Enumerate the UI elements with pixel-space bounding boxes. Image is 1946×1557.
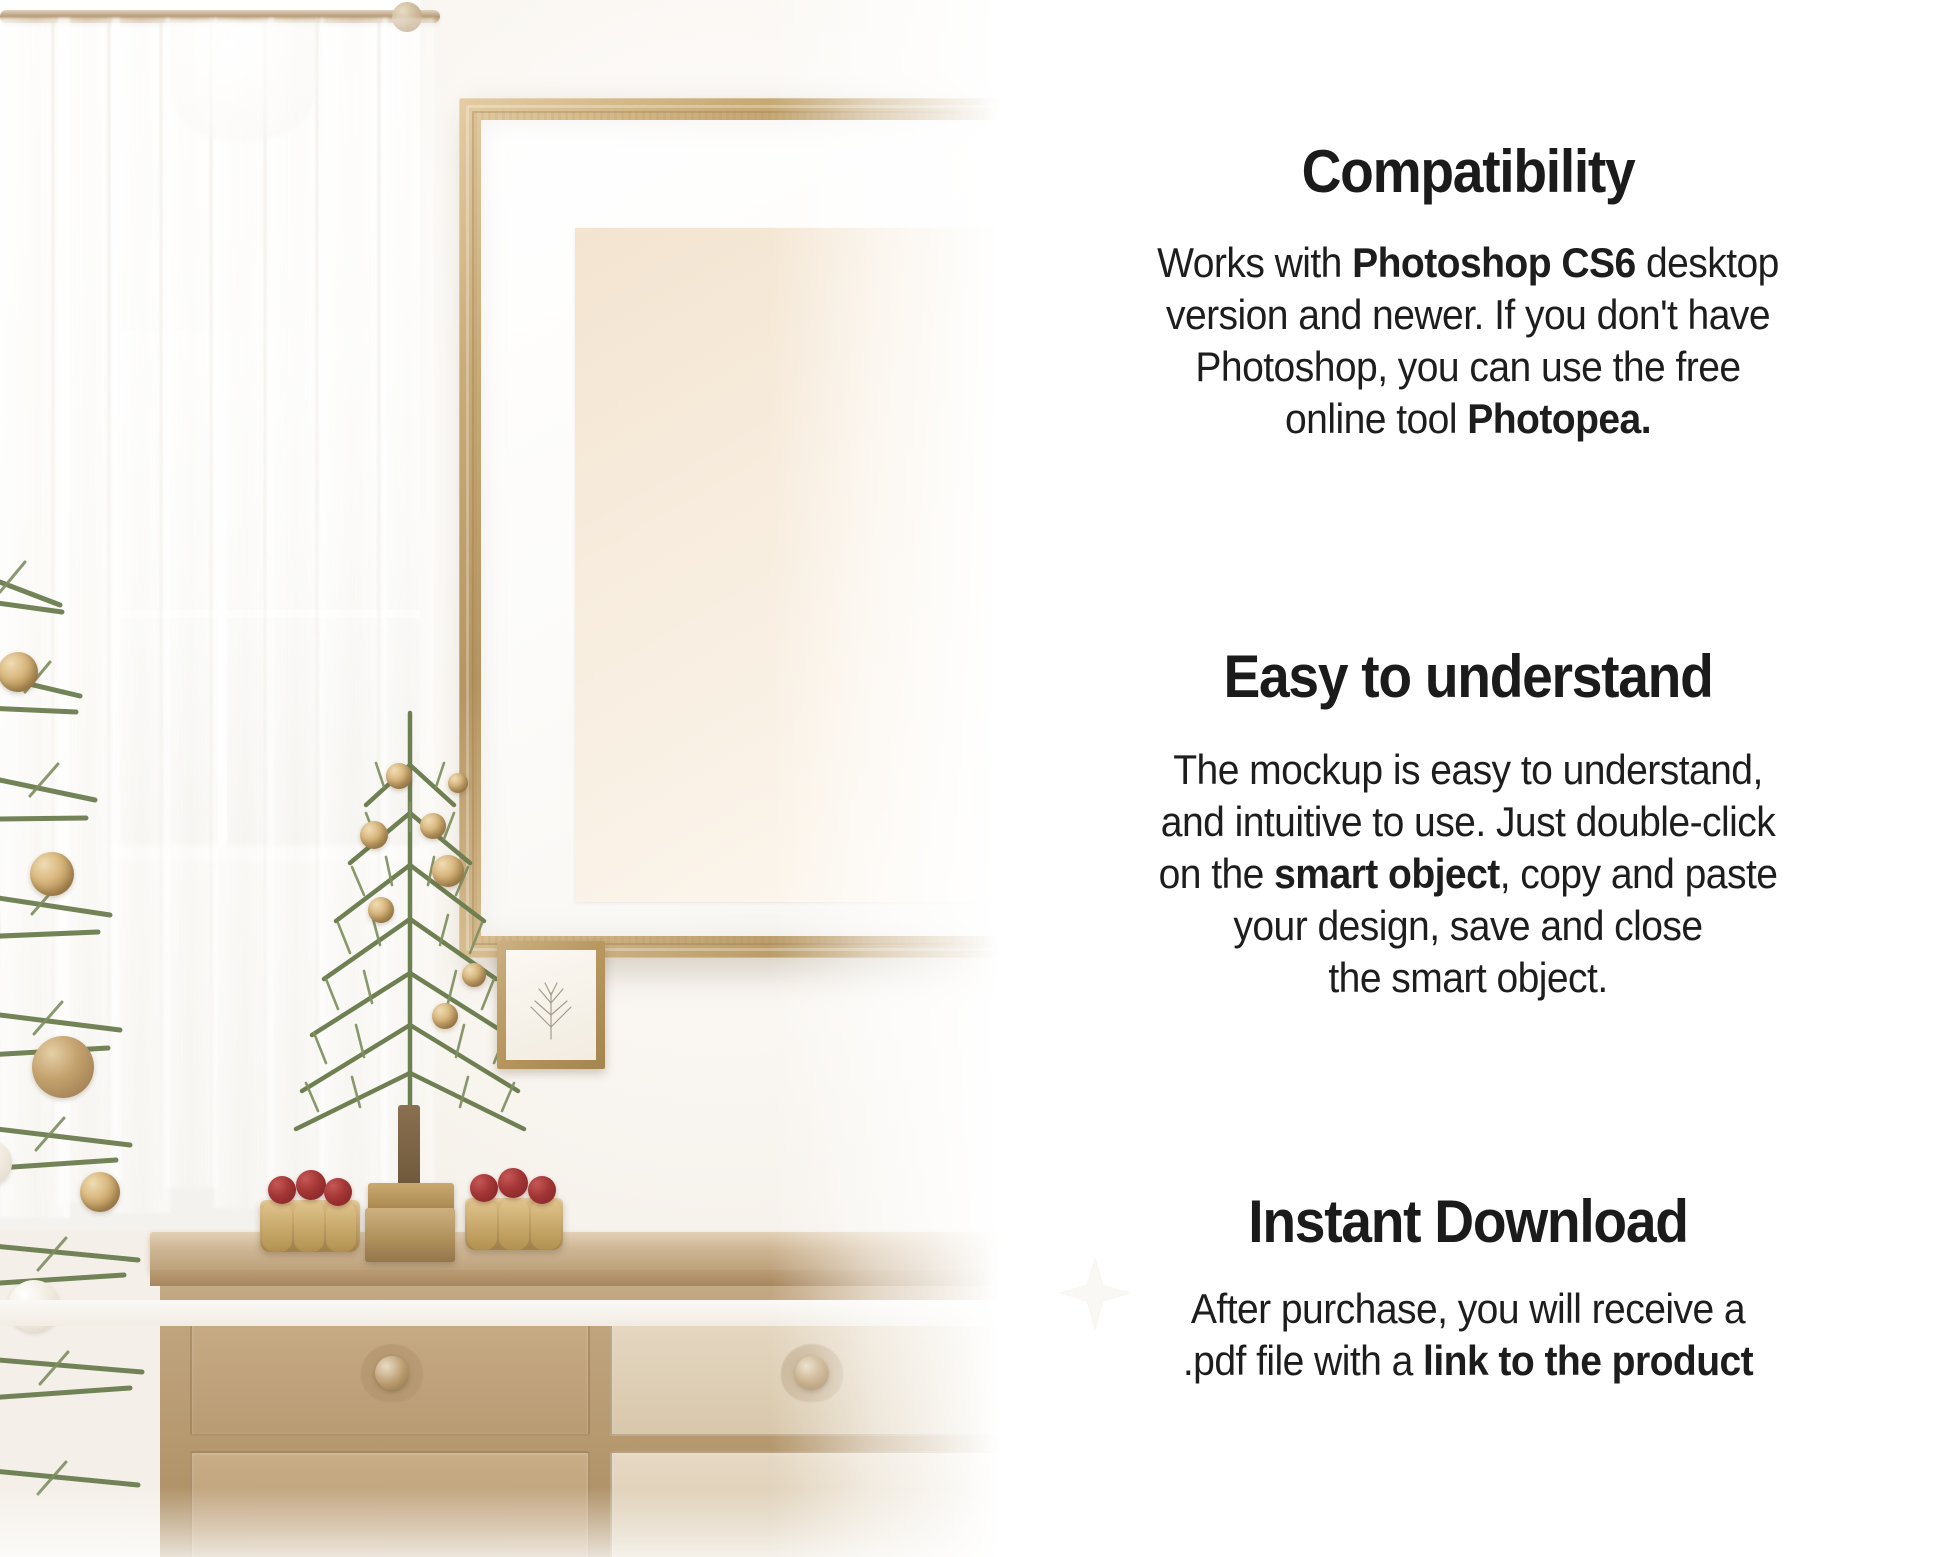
bowl-lobe	[326, 1200, 356, 1252]
heading-easy-to-understand: Easy to understand	[1082, 645, 1855, 708]
gold-ornament	[462, 963, 486, 987]
para-line: Works with Photoshop CS6 desktop	[1157, 239, 1779, 286]
para-line: your design, save and close	[1233, 902, 1702, 949]
gold-ornament	[448, 773, 468, 793]
gold-ornament	[432, 1003, 458, 1029]
emphasis: smart object	[1274, 850, 1500, 897]
brass-bowl-right	[465, 1198, 563, 1250]
tree-trunk	[398, 1105, 420, 1195]
dresser-drawer	[190, 1451, 590, 1557]
copy-block-instant-download: Instant Download After purchase, you wil…	[1048, 1190, 1888, 1387]
red-ornament	[470, 1174, 498, 1202]
drawer-knob	[375, 1356, 409, 1390]
paragraph-instant-download: After purchase, you will receive a.pdf f…	[1077, 1283, 1858, 1387]
bowl-lobe	[262, 1200, 292, 1252]
artwork-smart-object-area[interactable]	[575, 228, 1000, 902]
curtain-fold	[264, 18, 266, 1198]
bronze-ornament	[32, 1036, 94, 1098]
red-ornament	[498, 1168, 528, 1198]
dresser-edge	[150, 1270, 1000, 1286]
para-line: and intuitive to use. Just double-click	[1161, 798, 1775, 845]
para-line: .pdf file with a link to the product	[1183, 1337, 1753, 1384]
gold-ornament	[420, 813, 446, 839]
gold-ornament	[360, 821, 388, 849]
baseboard	[0, 1300, 1000, 1326]
bowl-lobe	[467, 1198, 497, 1250]
brass-bowl-left	[260, 1200, 360, 1252]
bowl-lobe	[499, 1198, 529, 1250]
heading-compatibility: Compatibility	[1082, 140, 1855, 203]
gold-ornament	[80, 1172, 120, 1212]
red-ornament	[324, 1178, 352, 1206]
wooden-box-planter	[365, 1208, 455, 1262]
red-ornament	[268, 1176, 296, 1204]
gold-ornament	[30, 852, 74, 896]
copy-block-easy-to-understand: Easy to understand The mockup is easy to…	[1048, 645, 1888, 1004]
gold-ornament	[432, 855, 464, 887]
para-line: The mockup is easy to understand,	[1173, 746, 1763, 793]
promo-canvas: Compatibility Works with Photoshop CS6 d…	[0, 0, 1946, 1557]
drawer-knob	[795, 1356, 829, 1390]
para-line: online tool Photopea.	[1285, 395, 1651, 442]
small-frame-artwork	[506, 950, 596, 1060]
red-ornament	[296, 1170, 326, 1200]
emphasis: Photoshop CS6	[1352, 239, 1636, 286]
para-line: the smart object.	[1328, 954, 1607, 1001]
interior-photo-scene	[0, 0, 1000, 1557]
paragraph-easy-to-understand: The mockup is easy to understand,and int…	[1077, 744, 1858, 1004]
small-gold-botanical-frame[interactable]	[497, 941, 605, 1069]
para-line: Photoshop, you can use the free	[1195, 343, 1740, 390]
para-line: on the smart object, copy and paste	[1159, 850, 1778, 897]
heading-instant-download: Instant Download	[1082, 1190, 1855, 1253]
para-line: After purchase, you will receive a	[1191, 1285, 1745, 1332]
frame-mat	[481, 120, 1000, 936]
wooden-dresser	[150, 1232, 1000, 1557]
emphasis: Photopea.	[1467, 395, 1651, 442]
curtain-gather	[168, 20, 318, 140]
red-ornament	[528, 1176, 556, 1204]
gold-ornament	[386, 763, 412, 789]
para-line: version and newer. If you don't have	[1166, 291, 1770, 338]
curtain-fold	[210, 18, 212, 1198]
copy-block-compatibility: Compatibility Works with Photoshop CS6 d…	[1048, 140, 1888, 445]
bowl-lobe	[531, 1198, 561, 1250]
dresser-drawer	[610, 1451, 1000, 1557]
gold-ornament	[368, 897, 394, 923]
large-picture-frame-mockup[interactable]	[459, 98, 1000, 958]
marketing-copy-column: Compatibility Works with Photoshop CS6 d…	[1000, 0, 1946, 1557]
paragraph-compatibility: Works with Photoshop CS6 desktopversion …	[1077, 237, 1858, 445]
botanical-illustration-icon	[523, 967, 579, 1043]
dresser-body	[160, 1286, 1000, 1557]
emphasis: link to the product	[1423, 1337, 1753, 1384]
bowl-lobe	[294, 1200, 324, 1252]
